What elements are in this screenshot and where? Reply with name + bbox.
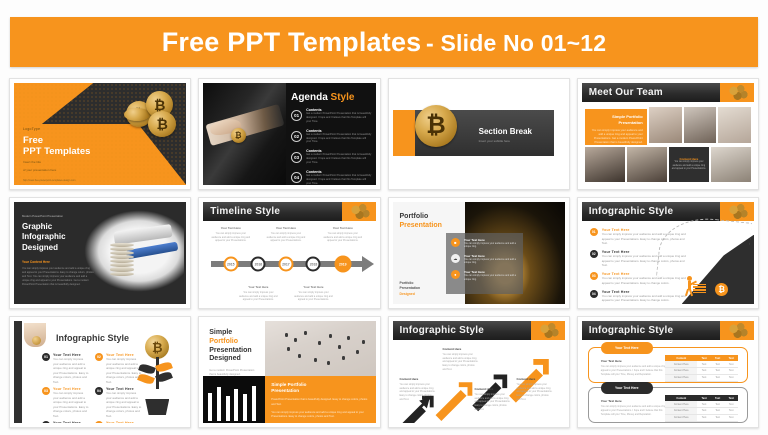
slide-4-canvas: Meet Our Team Simple Portfolio Presentat… <box>582 83 754 185</box>
team-photo[interactable] <box>649 107 682 143</box>
slide-5-title-line3: Designed <box>22 243 94 253</box>
slide-10-canvas: Simple Portfolio Presentation Designed G… <box>203 321 375 423</box>
timeline-node-year: 2018 <box>310 262 318 266</box>
stick-figure-icon <box>686 276 695 296</box>
page-root: Free PPT Templates - Slide No 01~12 ₿ ₿ … <box>0 0 768 435</box>
slide-thumbnail-1[interactable]: ₿ ₿ ₿ LogoType Free PPT Templates Insert… <box>9 78 191 190</box>
item-body: You can simply impress your audience and… <box>602 232 686 246</box>
arrow-caption-heading: Content Here <box>400 377 436 381</box>
slide-9-canvas: Infographic Style ₿ 01 Your Text HereYou… <box>14 321 186 423</box>
slide-8-header-bar: Infographic Style <box>582 202 754 221</box>
slide-11-header-bar: Infographic Style <box>393 321 565 340</box>
infographic-item[interactable]: 02 Your Text HereYou can simply impress … <box>95 353 142 384</box>
infographic-item[interactable]: 02 Your Text HereYou can simply impress … <box>590 250 686 268</box>
slide-thumbnail-7[interactable]: Portfolio Presentation ■ Your Text HereY… <box>388 197 570 309</box>
item-body: You can simply impress your audience and… <box>602 276 686 285</box>
coin-icon: ₿ <box>148 111 176 137</box>
timeline-node[interactable]: 2016 <box>251 257 266 272</box>
timeline-caption-body: You can simply impress your audience and… <box>266 232 306 243</box>
team-photo[interactable] <box>585 147 625 182</box>
infographic-item[interactable]: 01 Your Text HereYou can simply impress … <box>42 353 89 384</box>
banner-title: Free PPT Templates - Slide No 01~12 <box>162 27 607 58</box>
cloud-icon: ☁ <box>451 254 460 263</box>
slide-7-canvas: Portfolio Presentation ■ Your Text HereY… <box>393 202 565 304</box>
overlay-panel: ■ Your Text HereYou can simply impress y… <box>446 233 524 294</box>
slide-thumbnail-8[interactable]: Infographic Style ₿ 01 Your Text HereYou… <box>577 197 759 309</box>
table-cell: Text <box>711 374 725 381</box>
table-cell: Content Here <box>665 414 697 421</box>
agenda-number: 04 <box>291 172 302 183</box>
overlay-row[interactable]: ● Your Text HereYou can simply impress y… <box>451 270 519 281</box>
slide-10-title-line2: Portfolio <box>209 338 259 347</box>
slide-5-text-block: Modern PowerPoint Presentation Graphic I… <box>22 214 94 287</box>
timeline-caption-bottom: Your Text Here You can simply impress yo… <box>293 285 333 302</box>
slide-1-title-line2: PPT Templates <box>23 146 90 157</box>
timeline-caption-heading: Your Text Here <box>293 285 333 289</box>
agenda-row[interactable]: 03 ContentsGet a modern PowerPoint Prese… <box>291 149 371 165</box>
slide-thumbnail-6[interactable]: Timeline Style 2015 2016 2017 2018 2019 … <box>198 197 380 309</box>
team-photo[interactable] <box>711 147 751 182</box>
timeline-node[interactable]: 2019 <box>334 256 351 273</box>
table-row: Content Here Text Text Text <box>665 367 738 374</box>
card-text-block: Your Text Here You can simply impress yo… <box>601 359 671 377</box>
arrow-caption: Content Here You can simply impress your… <box>475 387 511 412</box>
item-heading: Your Text Here <box>53 421 89 423</box>
timeline-caption-heading: Your Text Here <box>323 226 363 230</box>
timeline-caption-bottom: Your Text Here You can simply impress yo… <box>238 285 278 302</box>
slide-8-canvas: Infographic Style ₿ 01 Your Text HereYou… <box>582 202 754 304</box>
agenda-number: 03 <box>291 152 302 163</box>
infographic-grid: 01 Your Text HereYou can simply impress … <box>42 353 142 423</box>
left-dark-strip <box>14 321 22 423</box>
slide-thumbnail-12[interactable]: Infographic Style Your Text Here Your Te… <box>577 316 759 428</box>
slide-2-title-orange: Style <box>331 92 355 103</box>
arrow-caption-heading: Content Here <box>517 377 553 381</box>
infographic-item[interactable]: 06 Your Text HereYou can simply impress … <box>95 421 142 423</box>
crowd-aerial-photo <box>265 321 375 376</box>
item-body: You can simply impress your audience and… <box>106 357 142 384</box>
coin-icon: ₿ <box>231 128 246 143</box>
item-badge: 02 <box>95 353 103 361</box>
item-badge: 06 <box>95 421 103 423</box>
slide-5-title-line2: Infographic <box>22 232 94 242</box>
item-badge: 01 <box>42 353 50 361</box>
coins-icon <box>538 322 560 339</box>
slide-thumbnail-3[interactable]: ₿ Section Break Insert your subtitle her… <box>388 78 570 190</box>
logotype-label: LogoType <box>23 127 90 131</box>
slide-6-header-bar: Timeline Style <box>203 202 375 221</box>
slide-7-title-line2: Presentation <box>400 222 442 229</box>
card-table: Content Text Text Text Content Here Text… <box>665 355 738 382</box>
infographic-item[interactable]: 03 Your Text HereYou can simply impress … <box>590 272 686 285</box>
agenda-row[interactable]: 02 ContentsGet a modern PowerPoint Prese… <box>291 129 371 145</box>
table-cell: Content Here <box>665 407 697 414</box>
coin-icon <box>32 336 41 345</box>
table-row: Content Here Text Text Text <box>665 414 738 421</box>
slide-10-title-line4: Designed <box>209 355 259 364</box>
slide-1-url: http://www.free-powerpoint-templates-des… <box>23 179 75 182</box>
coin-stack-shape <box>110 243 134 281</box>
slide-10-orange-body2: You can simply impress your audience and… <box>271 411 369 419</box>
arrow-caption-heading: Content Here <box>475 387 511 391</box>
item-badge: 03 <box>590 272 598 280</box>
overlay-body: You can simply impress your audience and… <box>464 242 519 249</box>
bitcoin-plant-illustration: ₿ <box>135 335 183 415</box>
bitcoin-icon: ₿ <box>715 283 728 296</box>
timeline-node-year: 2016 <box>255 262 263 266</box>
card-heading: Your Text Here <box>601 399 671 403</box>
slide-grid: ₿ ₿ ₿ LogoType Free PPT Templates Insert… <box>9 78 759 428</box>
timeline-caption-heading: Your Text Here <box>266 226 306 230</box>
team-photo[interactable] <box>627 147 667 182</box>
slide-4-header-title: Meet Our Team <box>582 87 663 98</box>
slide-5-section-label: Your Content Here <box>22 260 94 264</box>
item-heading: Your Text Here <box>106 421 142 423</box>
square-icon: ■ <box>451 238 460 247</box>
timeline-area: 2015 2016 2017 2018 2019 Your Text Here … <box>203 224 375 304</box>
table-cell: Text <box>724 367 738 374</box>
card-text-block: Your Text Here You can simply impress yo… <box>601 399 671 417</box>
slide-10-title-line3: Presentation <box>209 347 259 356</box>
slide-5-canvas: Modern PowerPoint Presentation Graphic I… <box>14 202 186 304</box>
team-photo-row-top <box>649 107 751 143</box>
table-row: Content Here Text Text Text <box>665 374 738 381</box>
timeline-caption-body: You can simply impress your audience and… <box>211 232 251 243</box>
timeline-caption-heading: Your Text Here <box>211 226 251 230</box>
item-badge: 05 <box>42 421 50 423</box>
slide-8-header-title: Infographic Style <box>582 206 674 217</box>
slide-1-subtitle-line2: of your presentation here <box>23 168 90 173</box>
team-photo[interactable] <box>718 107 751 143</box>
infographic-list: 01 Your Text HereYou can simply impress … <box>590 228 686 304</box>
timeline-caption-body: You can simply impress your audience and… <box>238 291 278 302</box>
table-cell: Text <box>697 414 711 421</box>
timeline-caption-body: You can simply impress your audience and… <box>293 291 333 302</box>
team-panel-title-line2: Presentation <box>589 120 643 126</box>
bw-silhouette-photo <box>203 376 265 423</box>
slide-thumbnail-4[interactable]: Meet Our Team Simple Portfolio Presentat… <box>577 78 759 190</box>
timeline-node-year: 2019 <box>339 262 347 266</box>
overlay-row[interactable]: ■ Your Text HereYou can simply impress y… <box>451 238 519 249</box>
bitcoin-icon: ₿ <box>145 335 169 359</box>
slide-5-kicker: Modern PowerPoint Presentation <box>22 214 94 218</box>
timeline-caption-body: You can simply impress your audience and… <box>323 232 363 243</box>
arrow-caption-body: You can simply impress your audience and… <box>517 383 553 402</box>
arrow-caption: Content Here You can simply impress your… <box>400 377 436 402</box>
agenda-row[interactable]: 01 ContentsGet a modern PowerPoint Prese… <box>291 108 371 124</box>
info-card-orange[interactable]: Your Text Here Your Text Here You can si… <box>588 347 748 383</box>
item-body: You can simply impress your audience and… <box>602 254 686 268</box>
arrow-caption-body: You can simply impress your audience and… <box>475 393 511 412</box>
team-text-panel: Simple Portfolio Presentation You can si… <box>585 109 647 145</box>
timeline-arrow-head <box>362 256 374 272</box>
slide-12-canvas: Infographic Style Your Text Here Your Te… <box>582 321 754 423</box>
coins-icon <box>349 203 371 220</box>
banner-title-main: Free PPT Templates <box>162 27 422 57</box>
card-heading: Your Text Here <box>601 359 671 363</box>
arrow-caption-body: You can simply impress your audience and… <box>400 383 436 402</box>
card-pill-label: Your Text Here <box>601 382 653 394</box>
pot-shape <box>145 399 169 415</box>
slide-7-footer-line3: Designed <box>400 292 421 297</box>
slide-10-orange-body1: PowerPoint Presentation that is beautifu… <box>271 398 369 406</box>
card-body: You can simply impress your audience and… <box>601 365 671 377</box>
slide-9-title: Infographic Style <box>56 333 129 343</box>
slide-thumbnail-11[interactable]: Infographic Style Content Here <box>388 316 570 428</box>
table-row: Content Here Text Text Text <box>665 407 738 414</box>
circle-icon: ● <box>451 270 460 279</box>
card-table: Content Text Text Text Content Here Text… <box>665 395 738 422</box>
header-banner: Free PPT Templates - Slide No 01~12 <box>10 17 758 67</box>
slide-6-canvas: Timeline Style 2015 2016 2017 2018 2019 … <box>203 202 375 304</box>
timeline-caption-top: Your Text Here You can simply impress yo… <box>266 226 306 243</box>
slide-thumbnail-5[interactable]: Modern PowerPoint Presentation Graphic I… <box>9 197 191 309</box>
card-body: You can simply impress your audience and… <box>601 405 671 417</box>
infographic-item[interactable]: 03 Your Text HereYou can simply impress … <box>42 387 89 418</box>
slide-7-title-line1: Portfolio <box>400 213 429 220</box>
agenda-row[interactable]: 04 ContentsGet a modern PowerPoint Prese… <box>291 170 371 185</box>
coins-icon <box>727 322 749 339</box>
slide-10-orange-title-line2: Presentation <box>271 388 369 394</box>
arrow-up-icon <box>435 382 472 421</box>
infographic-item[interactable]: 04 Your Text HereYou can simply impress … <box>95 387 142 418</box>
arrow-caption: Content Here You can simply impress your… <box>443 347 479 372</box>
info-card-dark[interactable]: Your Text Here Your Text Here You can si… <box>588 387 748 423</box>
coins-icon <box>727 84 749 101</box>
slide-7-footer: Portfolio Presentation Designed <box>400 281 421 297</box>
slide-4-header-bar: Meet Our Team <box>582 83 754 102</box>
slide-2-title-black: Agenda <box>291 92 330 103</box>
team-dark-card-body: You can simply impress your audience and… <box>671 161 707 172</box>
slide-10-title-line1: Simple <box>209 329 259 338</box>
item-badge: 03 <box>42 387 50 395</box>
arrow-caption: Content Here You can simply impress your… <box>517 377 553 402</box>
agenda-number: 01 <box>291 110 302 121</box>
overlay-body: You can simply impress your audience and… <box>464 274 519 281</box>
slide-1-canvas: ₿ ₿ ₿ LogoType Free PPT Templates Insert… <box>14 83 186 185</box>
table-cell: Text <box>724 407 738 414</box>
coins-icon <box>727 203 749 220</box>
table-cell: Text <box>724 374 738 381</box>
table-cell: Content Here <box>665 374 697 381</box>
tools-coins-image <box>84 210 184 292</box>
infographic-item[interactable]: 04 Your Text HereYou can simply impress … <box>590 290 686 303</box>
slide-3-title: Section Break <box>479 127 532 136</box>
arrow-caption-heading: Content Here <box>443 347 479 351</box>
timeline-node-year: 2015 <box>227 262 235 266</box>
slide-10-title-block: Simple Portfolio Presentation Designed G… <box>203 321 265 376</box>
slide-11-header-title: Infographic Style <box>393 325 485 336</box>
table-cell: Text <box>724 414 738 421</box>
agenda-body: Get a modern PowerPoint Presentation tha… <box>306 112 371 124</box>
slide-12-header-bar: Infographic Style <box>582 321 754 340</box>
table-cell: Text <box>711 407 725 414</box>
slide-6-header-title: Timeline Style <box>203 206 280 217</box>
slide-thumbnail-2[interactable]: ₿ Agenda Style 01 ContentsGet a modern P… <box>198 78 380 190</box>
table-cell: Text <box>711 367 725 374</box>
bitcoin-coins-image: ₿ ₿ ₿ <box>120 89 182 141</box>
agenda-rows: 01 ContentsGet a modern PowerPoint Prese… <box>291 108 371 185</box>
slide-12-header-title: Infographic Style <box>582 325 674 336</box>
item-badge: 01 <box>590 228 598 236</box>
table-cell: Content Here <box>665 367 697 374</box>
slide-1-title-line1: Free <box>23 135 90 146</box>
slide-1-text-block: LogoType Free PPT Templates Insert the t… <box>23 127 90 172</box>
slide-thumbnail-9[interactable]: Infographic Style ₿ 01 Your Text HereYou… <box>9 316 191 428</box>
slide-5-body: You can simply impress your audience and… <box>22 267 94 287</box>
overlay-row[interactable]: ☁ Your Text HereYou can simply impress y… <box>451 254 519 265</box>
timeline-node[interactable]: 2017 <box>278 257 293 272</box>
item-badge: 04 <box>95 387 103 395</box>
slide-thumbnail-10[interactable]: Simple Portfolio Presentation Designed G… <box>198 316 380 428</box>
orange-text-panel: Simple Portfolio Presentation PowerPoint… <box>265 376 375 423</box>
table-cell: Text <box>711 414 725 421</box>
table-cell: Text <box>697 407 711 414</box>
slide-5-title-line1: Graphic <box>22 222 94 232</box>
overlay-body: You can simply impress your audience and… <box>464 258 519 265</box>
timeline-caption-heading: Your Text Here <box>238 285 278 289</box>
agenda-body: Get a modern PowerPoint Presentation tha… <box>306 174 371 185</box>
stem-shape <box>156 357 158 389</box>
timeline-node-year: 2017 <box>282 262 290 266</box>
item-badge: 04 <box>590 290 598 298</box>
team-photo[interactable] <box>684 107 717 143</box>
slide-3-canvas: ₿ Section Break Insert your subtitle her… <box>393 83 565 185</box>
infographic-item[interactable]: 01 Your Text HereYou can simply impress … <box>590 228 686 246</box>
agenda-body: Get a modern PowerPoint Presentation tha… <box>306 133 371 145</box>
slide-7-footer-line2: Presentation <box>400 286 421 291</box>
item-body: You can simply impress your audience and… <box>53 357 89 384</box>
team-photo-row-bottom: Content Here You can simply impress your… <box>585 147 751 182</box>
slide-2-title: Agenda Style <box>291 92 354 103</box>
slide-3-subtitle: Insert your subtitle here <box>479 139 510 143</box>
item-body: You can simply impress your audience and… <box>602 294 686 303</box>
timeline-caption-top: Your Text Here You can simply impress yo… <box>211 226 251 243</box>
slide-11-canvas: Infographic Style Content Here <box>393 321 565 423</box>
timeline-caption-top: Your Text Here You can simply impress yo… <box>323 226 363 243</box>
item-body: You can simply impress your audience and… <box>53 391 89 418</box>
item-body: You can simply impress your audience and… <box>106 391 142 418</box>
agenda-number: 02 <box>291 131 302 142</box>
team-panel-body: You can simply impress your audience and… <box>589 129 643 145</box>
agenda-body: Get a modern PowerPoint Presentation tha… <box>306 153 371 165</box>
slide-1-subtitle-line1: Insert the title <box>23 160 90 165</box>
infographic-item[interactable]: 05 Your Text HereYou can simply impress … <box>42 421 89 423</box>
table-cell: Text <box>697 367 711 374</box>
card-pill-label: Your Text Here <box>601 342 653 354</box>
table-cell: Text <box>697 374 711 381</box>
banner-title-sub: - Slide No 01~12 <box>426 30 606 56</box>
arrow-caption-body: You can simply impress your audience and… <box>443 353 479 372</box>
slide-2-canvas: ₿ Agenda Style 01 ContentsGet a modern P… <box>203 83 375 185</box>
item-badge: 02 <box>590 250 598 258</box>
team-dark-card[interactable]: Content Here You can simply impress your… <box>669 147 709 182</box>
timeline-node[interactable]: 2018 <box>306 257 321 272</box>
timeline-node[interactable]: 2015 <box>223 257 238 272</box>
